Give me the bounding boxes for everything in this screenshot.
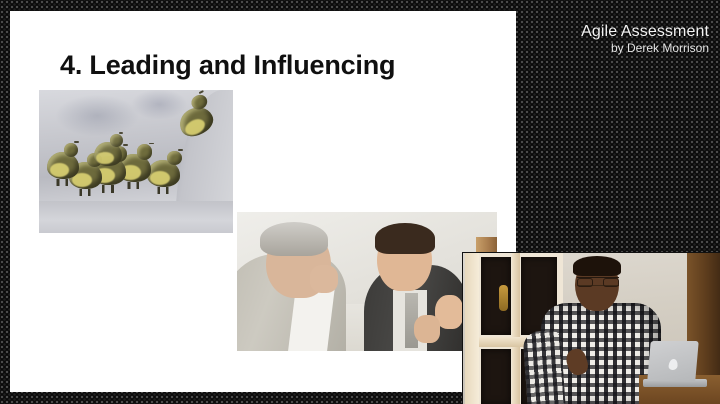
businessman-left-hand-on-chin [310,265,339,293]
businessman-right-hair [375,223,435,254]
duckling-follower [47,152,79,179]
brand-title: Agile Assessment [581,23,709,41]
image-two-businessmen-in-discussion [237,212,497,351]
window-mullion [512,253,520,404]
slide-title: 4. Leading and Influencing [60,50,395,81]
duckling-follower [147,160,180,187]
duckling-ground [39,201,233,233]
presentation-slide: 4. Leading and Influencing [10,11,516,392]
image-ducklings-following-leader [39,90,233,233]
window-frame [465,253,479,404]
presenter-hair [573,256,621,276]
branding-overlay: Agile Assessment by Derek Morrison [581,23,709,55]
laptop-screen [647,341,698,381]
window-handle [499,285,508,311]
duckling-follower [94,142,122,166]
glasses-icon [577,277,619,286]
presentation-recording-stage: 4. Leading and Influencing [0,0,720,404]
businessman-left-hair [260,222,328,257]
presenter-arm [522,330,565,404]
window-pane [481,349,511,404]
apple-logo-icon [668,359,678,370]
presenter-video-inset[interactable] [462,252,720,404]
businessman-right-gesturing-hand [414,315,440,343]
brand-subtitle: by Derek Morrison [581,42,709,55]
